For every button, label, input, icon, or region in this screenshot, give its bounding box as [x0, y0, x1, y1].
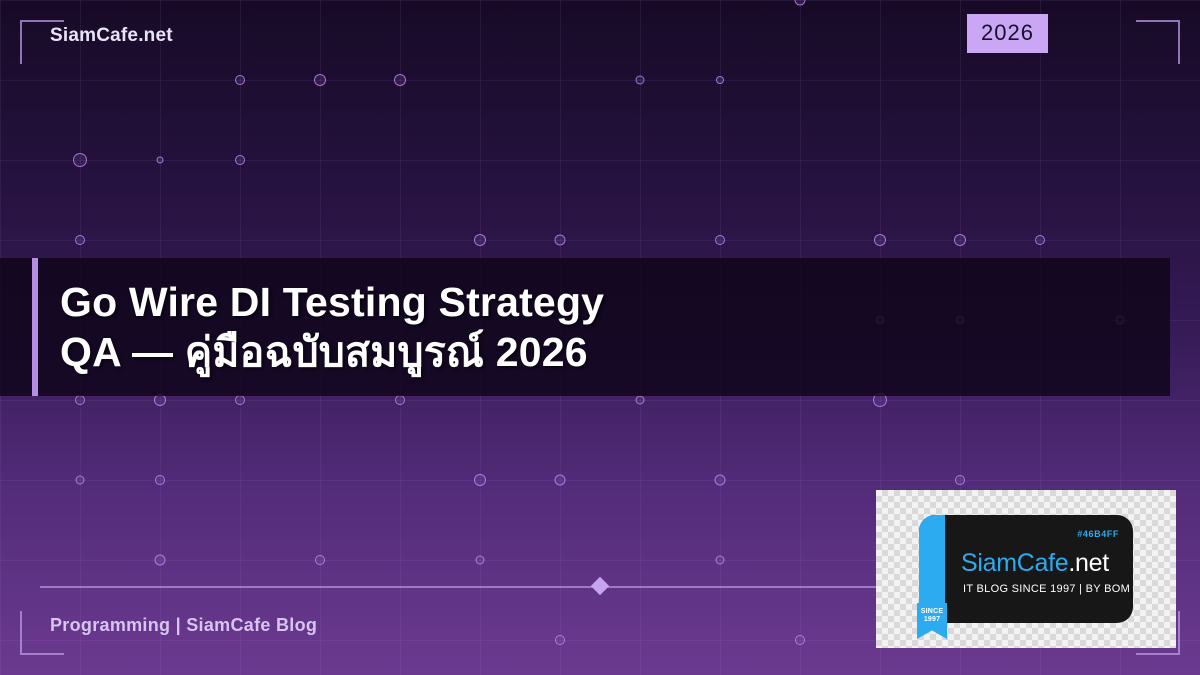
hero-banner: SiamCafe.net 2026 Go Wire DI Testing Str…	[0, 0, 1200, 675]
page-title: Go Wire DI Testing Strategy QA — คู่มือฉ…	[60, 277, 604, 377]
logo-wordmark-primary: SiamCafe	[961, 549, 1068, 577]
background-dot	[235, 75, 245, 85]
logo-tagline: IT BLOG SINCE 1997 | BY BOM	[963, 583, 1130, 595]
footer-category: Programming | SiamCafe Blog	[50, 615, 317, 636]
title-accent-bar	[32, 258, 38, 396]
background-dot	[75, 395, 85, 405]
background-dot	[636, 76, 645, 85]
background-dot	[395, 395, 405, 405]
site-name: SiamCafe.net	[50, 25, 173, 47]
background-dot	[476, 556, 485, 565]
background-dot	[716, 556, 725, 565]
background-dot	[555, 635, 565, 645]
background-dot	[235, 155, 245, 165]
title-band: Go Wire DI Testing Strategy QA — คู่มือฉ…	[0, 258, 1170, 396]
background-dot	[1035, 235, 1045, 245]
background-dot	[715, 235, 725, 245]
divider-diamond-icon	[591, 577, 609, 595]
background-dot	[795, 0, 806, 6]
logo-hex-label: #46B4FF	[1077, 529, 1119, 539]
background-dot	[314, 74, 326, 86]
logo-inner: SINCE 1997 #46B4FF SiamCafe.net IT BLOG …	[919, 515, 1133, 623]
background-dot	[394, 74, 406, 86]
background-dot	[155, 475, 165, 485]
background-dot	[75, 235, 85, 245]
background-dot	[76, 476, 85, 485]
logo-ribbon-line-1: SINCE	[921, 608, 943, 615]
background-dot	[155, 555, 166, 566]
background-dot	[555, 235, 566, 246]
background-dot	[715, 475, 726, 486]
year-badge: 2026	[967, 14, 1048, 53]
background-dot	[954, 234, 966, 246]
logo-wordmark: SiamCafe.net	[961, 549, 1109, 578]
logo-ribbon-line-2: 1997	[924, 616, 940, 623]
background-dot	[315, 555, 325, 565]
background-dot	[716, 76, 724, 84]
background-dot	[474, 234, 486, 246]
logo-wordmark-suffix: .net	[1068, 549, 1109, 577]
background-dot	[955, 475, 965, 485]
background-dot	[235, 395, 245, 405]
logo-card: SINCE 1997 #46B4FF SiamCafe.net IT BLOG …	[876, 490, 1176, 648]
logo-since-ribbon-icon: SINCE 1997	[917, 603, 947, 639]
background-dot	[795, 635, 805, 645]
background-dot	[474, 474, 486, 486]
background-dot	[157, 157, 164, 164]
background-dot	[636, 396, 645, 405]
background-dot	[555, 475, 566, 486]
page-title-line-2: QA — คู่มือฉบับสมบูรณ์ 2026	[60, 327, 604, 377]
background-dot	[73, 153, 87, 167]
corner-bracket-top-right-icon	[1136, 20, 1180, 64]
page-title-line-1: Go Wire DI Testing Strategy	[60, 277, 604, 327]
background-dot	[874, 234, 886, 246]
